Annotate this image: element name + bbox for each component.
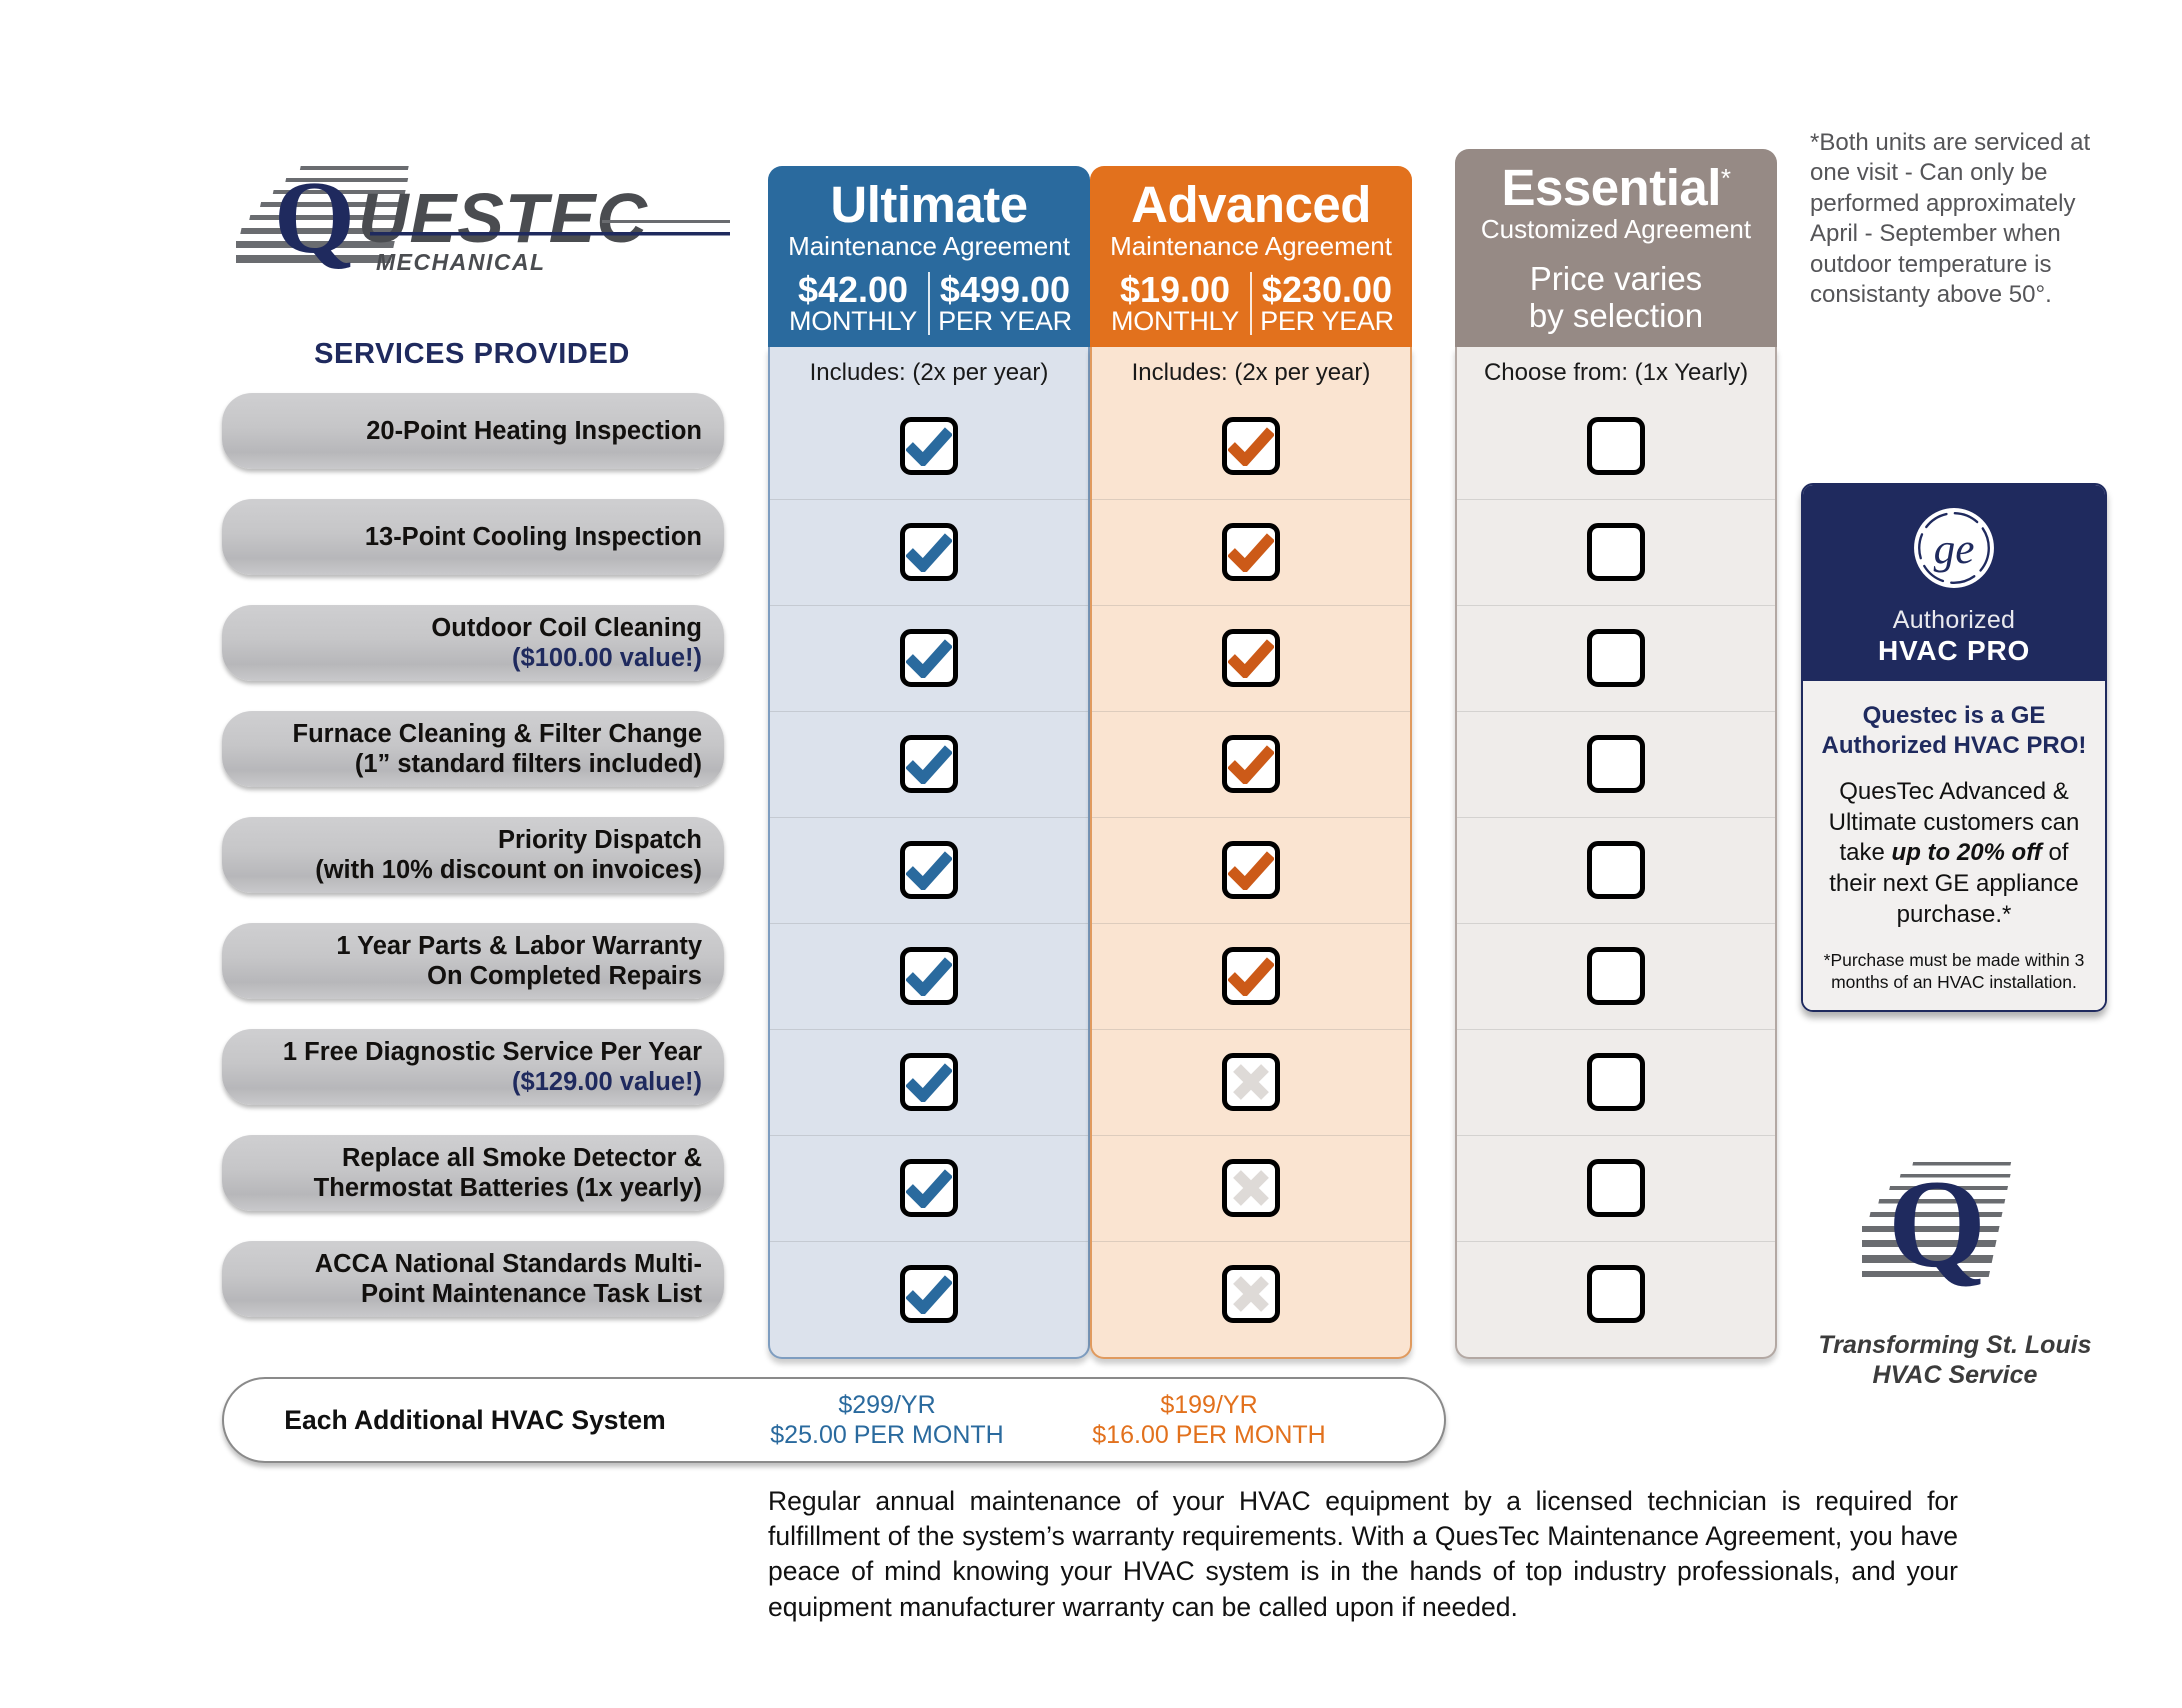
plan-header: UltimateMaintenance Agreement$42.00MONTH… (768, 166, 1090, 347)
plan-feature-cell (770, 499, 1088, 605)
checkbox-checked[interactable] (900, 735, 958, 793)
service-line-primary: ACCA National Standards Multi- (315, 1250, 702, 1278)
check-icon (906, 850, 952, 890)
ge-card-body: Questec is a GE Authorized HVAC PRO! Que… (1803, 681, 2105, 1010)
service-pill-text: 1 Free Diagnostic Service Per Year($129.… (283, 1037, 702, 1097)
cross-icon (1231, 1062, 1271, 1102)
ge-offer-emphasis: up to 20% off (1892, 839, 2042, 866)
ge-monogram-icon: ge (1907, 501, 2001, 595)
check-icon (906, 532, 952, 572)
plan-subtitle: Customized Agreement (1465, 215, 1767, 245)
service-pill-text: Replace all Smoke Detector &Thermostat B… (314, 1143, 702, 1203)
svg-text:Q: Q (1888, 1158, 1986, 1294)
plan-column: UltimateMaintenance Agreement$42.00MONTH… (768, 166, 1090, 1359)
plan-feature-cell (770, 817, 1088, 923)
questec-logo-svg: Q UESTEC MECHANICAL (236, 160, 736, 280)
svg-text:MECHANICAL: MECHANICAL (376, 249, 546, 275)
checkbox-checked[interactable] (1222, 735, 1280, 793)
cross-icon (1231, 1168, 1271, 1208)
plan-feature-cell (1457, 1241, 1775, 1347)
service-line-secondary: On Completed Repairs (336, 961, 702, 991)
plan-price-yearly-amount: $230.00 (1252, 272, 1402, 308)
plan-feature-cell (1457, 1029, 1775, 1135)
service-line-primary: Outdoor Coil Cleaning (431, 614, 702, 642)
plan-name: Ultimate (778, 180, 1080, 230)
plan-feature-cell (1457, 817, 1775, 923)
plan-price-monthly: $42.00MONTHLY (778, 272, 930, 335)
plan-price-yearly-amount: $499.00 (930, 272, 1080, 308)
check-icon (1228, 426, 1274, 466)
plan-feature-cell (770, 605, 1088, 711)
plan-feature-cell (1092, 923, 1410, 1029)
service-line-primary: 13-Point Cooling Inspection (365, 523, 702, 551)
plan-column: Essential*Customized AgreementPrice vari… (1455, 149, 1777, 1359)
ge-headline: Questec is a GE Authorized HVAC PRO! (1819, 701, 2089, 761)
checkbox-checked[interactable] (900, 417, 958, 475)
plan-column: AdvancedMaintenance Agreement$19.00MONTH… (1090, 166, 1412, 1359)
checkbox-checked[interactable] (900, 841, 958, 899)
checkbox-empty[interactable] (1587, 523, 1645, 581)
service-line-secondary: Point Maintenance Task List (315, 1279, 702, 1309)
plan-name: Advanced (1100, 180, 1402, 230)
footer-disclaimer: Regular annual maintenance of your HVAC … (768, 1484, 1958, 1625)
additional-system-ultimate-price: $299/YR $25.00 PER MONTH (726, 1379, 1048, 1461)
service-pill-text: 13-Point Cooling Inspection (365, 522, 702, 552)
check-icon (1228, 850, 1274, 890)
plan-name: Essential* (1465, 163, 1767, 213)
questec-q-logo-svg: Q (1862, 1158, 2052, 1298)
questec-logo: Q UESTEC MECHANICAL (236, 160, 736, 280)
service-pill-text: ACCA National Standards Multi-Point Main… (315, 1249, 702, 1309)
checkbox-empty[interactable] (1587, 947, 1645, 1005)
checkbox-checked[interactable] (900, 1053, 958, 1111)
service-line-primary: 20-Point Heating Inspection (366, 417, 702, 445)
service-line-primary: 1 Year Parts & Labor Warranty (336, 932, 702, 960)
service-pill: ACCA National Standards Multi-Point Main… (222, 1241, 724, 1317)
check-icon (906, 744, 952, 784)
checkbox-checked[interactable] (1222, 629, 1280, 687)
plan-feature-cell (1457, 711, 1775, 817)
service-pill: Replace all Smoke Detector &Thermostat B… (222, 1135, 724, 1211)
checkbox-checked[interactable] (900, 523, 958, 581)
additional-system-bar: Each Additional HVAC System $299/YR $25.… (222, 1377, 1446, 1463)
svg-text:UESTEC: UESTEC (358, 179, 648, 257)
service-pill: 1 Year Parts & Labor WarrantyOn Complete… (222, 923, 724, 999)
plan-includes-label: Includes: (2x per year) (770, 347, 1088, 393)
plan-feature-cell (1092, 1135, 1410, 1241)
check-icon (1228, 956, 1274, 996)
footnote-text: *Both units are serviced at one visit - … (1810, 128, 2100, 311)
ge-card-header: ge Authorized HVAC PRO (1803, 485, 2105, 681)
plan-feature-cell (1457, 499, 1775, 605)
ge-offer-text: QuesTec Advanced & Ultimate customers ca… (1819, 777, 2089, 931)
ge-hvac-pro-label: HVAC PRO (1803, 635, 2105, 667)
checkbox-empty[interactable] (1587, 1053, 1645, 1111)
check-icon (1228, 532, 1274, 572)
plan-header: Essential*Customized AgreementPrice vari… (1455, 149, 1777, 347)
svg-text:Q: Q (274, 160, 355, 275)
service-value-note: ($100.00 value!) (431, 643, 702, 673)
checkbox-empty[interactable] (1587, 629, 1645, 687)
checkbox-checked[interactable] (1222, 417, 1280, 475)
service-pill: Outdoor Coil Cleaning($100.00 value!) (222, 605, 724, 681)
plan-body: Choose from: (1x Yearly) (1455, 347, 1777, 1359)
plan-body: Includes: (2x per year) (1090, 347, 1412, 1359)
questec-q-logo: Q (1862, 1158, 2052, 1298)
service-pill: 1 Free Diagnostic Service Per Year($129.… (222, 1029, 724, 1105)
service-line-primary: 1 Free Diagnostic Service Per Year (283, 1038, 702, 1066)
service-pill: Furnace Cleaning & Filter Change(1” stan… (222, 711, 724, 787)
service-pill: 20-Point Heating Inspection (222, 393, 724, 469)
ge-authorized-card: ge Authorized HVAC PRO Questec is a GE A… (1801, 483, 2107, 1012)
checkbox-checked[interactable] (900, 629, 958, 687)
plan-feature-cell (1092, 711, 1410, 817)
service-line-primary: Priority Dispatch (498, 826, 702, 854)
checkbox-checked[interactable] (900, 1265, 958, 1323)
plan-price-monthly-label: MONTHLY (1100, 308, 1250, 335)
service-pill: 13-Point Cooling Inspection (222, 499, 724, 575)
plan-price-row: $19.00MONTHLY$230.00PER YEAR (1100, 272, 1402, 335)
check-icon (1228, 744, 1274, 784)
check-icon (906, 426, 952, 466)
service-line-primary: Replace all Smoke Detector & (342, 1144, 702, 1172)
pricing-comparison-page: Q UESTEC MECHANICAL SERVICES PROVIDED 20… (0, 0, 2182, 1708)
plan-feature-cell (1092, 393, 1410, 499)
plan-feature-cell (770, 1241, 1088, 1347)
checkbox-empty[interactable] (1587, 1265, 1645, 1323)
service-pill-text: Outdoor Coil Cleaning($100.00 value!) (431, 613, 702, 673)
plan-price-row: $42.00MONTHLY$499.00PER YEAR (778, 272, 1080, 335)
plan-feature-cell (1457, 923, 1775, 1029)
checkbox-crossed[interactable] (1222, 1053, 1280, 1111)
service-pill-text: 20-Point Heating Inspection (366, 416, 702, 446)
checkbox-crossed[interactable] (1222, 1159, 1280, 1217)
service-pill-text: 1 Year Parts & Labor WarrantyOn Complete… (336, 931, 702, 991)
checkbox-empty[interactable] (1587, 735, 1645, 793)
checkbox-checked[interactable] (900, 947, 958, 1005)
plan-feature-cell (1457, 1135, 1775, 1241)
ge-authorized-label: Authorized (1803, 606, 2105, 635)
plan-feature-cell (1092, 817, 1410, 923)
plan-feature-cell (770, 1135, 1088, 1241)
checkbox-empty[interactable] (1587, 417, 1645, 475)
checkbox-checked[interactable] (1222, 523, 1280, 581)
plan-price-monthly-amount: $19.00 (1100, 272, 1250, 308)
checkbox-checked[interactable] (1222, 947, 1280, 1005)
checkbox-checked[interactable] (900, 1159, 958, 1217)
service-pill: Priority Dispatch(with 10% discount on i… (222, 817, 724, 893)
plan-price-monthly: $19.00MONTHLY (1100, 272, 1252, 335)
plan-subtitle: Maintenance Agreement (778, 232, 1080, 262)
check-icon (906, 1168, 952, 1208)
plan-price-yearly-label: PER YEAR (1252, 308, 1402, 335)
plan-includes-label: Choose from: (1x Yearly) (1457, 347, 1775, 393)
service-value-note: ($129.00 value!) (283, 1067, 702, 1097)
plan-feature-cell (1092, 1241, 1410, 1347)
svg-text:ge: ge (1934, 525, 1975, 573)
services-provided-title: SERVICES PROVIDED (222, 338, 722, 371)
plan-feature-cell (1457, 393, 1775, 499)
cross-icon (1231, 1274, 1271, 1314)
additional-system-label: Each Additional HVAC System (224, 1379, 726, 1461)
plan-asterisk: * (1721, 163, 1731, 193)
checkbox-checked[interactable] (1222, 841, 1280, 899)
plan-price-yearly: $230.00PER YEAR (1252, 272, 1402, 335)
plan-includes-label: Includes: (2x per year) (1092, 347, 1410, 393)
plan-feature-cell (1092, 1029, 1410, 1135)
plan-feature-cell (1092, 605, 1410, 711)
check-icon (906, 1062, 952, 1102)
plan-price-varies: Price variesby selection (1465, 261, 1767, 335)
plan-price-monthly-amount: $42.00 (778, 272, 928, 308)
additional-system-advanced-price: $199/YR $16.00 PER MONTH (1048, 1379, 1370, 1461)
check-icon (906, 1274, 952, 1314)
service-pill-text: Priority Dispatch(with 10% discount on i… (315, 825, 702, 885)
plan-feature-cell (770, 393, 1088, 499)
plan-subtitle: Maintenance Agreement (1100, 232, 1402, 262)
service-line-primary: Furnace Cleaning & Filter Change (293, 720, 702, 748)
plan-feature-cell (770, 1029, 1088, 1135)
service-pill-text: Furnace Cleaning & Filter Change(1” stan… (293, 719, 702, 779)
plan-feature-cell (770, 711, 1088, 817)
plan-body: Includes: (2x per year) (768, 347, 1090, 1359)
plan-price-monthly-label: MONTHLY (778, 308, 928, 335)
checkbox-crossed[interactable] (1222, 1265, 1280, 1323)
check-icon (906, 956, 952, 996)
plan-price-yearly: $499.00PER YEAR (930, 272, 1080, 335)
plan-feature-cell (770, 923, 1088, 1029)
plan-feature-cell (1457, 605, 1775, 711)
ge-fine-print: *Purchase must be made within 3 months o… (1819, 949, 2089, 995)
service-line-secondary: (with 10% discount on invoices) (315, 855, 702, 885)
service-line-secondary: (1” standard filters included) (293, 749, 702, 779)
service-line-secondary: Thermostat Batteries (1x yearly) (314, 1173, 702, 1203)
company-tagline: Transforming St. Louis HVAC Service (1790, 1330, 2120, 1390)
plan-feature-cell (1092, 499, 1410, 605)
checkbox-empty[interactable] (1587, 841, 1645, 899)
check-icon (906, 638, 952, 678)
plan-header: AdvancedMaintenance Agreement$19.00MONTH… (1090, 166, 1412, 347)
check-icon (1228, 638, 1274, 678)
checkbox-empty[interactable] (1587, 1159, 1645, 1217)
plan-price-yearly-label: PER YEAR (930, 308, 1080, 335)
